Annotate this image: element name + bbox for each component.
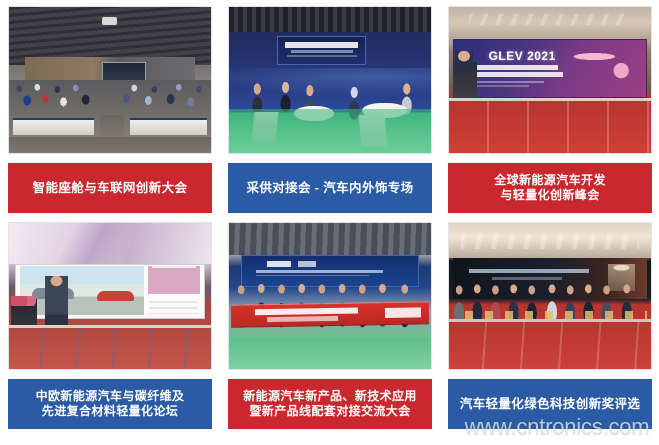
podium-flowers — [11, 296, 37, 306]
red-stage-floor — [449, 319, 651, 369]
card-2-photo[interactable] — [228, 6, 432, 154]
screen-line-4 — [471, 85, 529, 87]
card-4-caption: 中欧新能源汽车与碳纤维及 先进复合材料轻量化论坛 — [8, 379, 212, 429]
card-2-caption: 采供对接会 - 汽车内外饰专场 — [228, 163, 432, 213]
desk-right — [130, 118, 207, 136]
gallery-card-3[interactable]: GLEV 2021 全球新能源汽车开发 与轻量化创新峰会 — [448, 6, 652, 216]
slide-title-panel — [148, 266, 201, 294]
photo-scene-glev-summit: GLEV 2021 — [449, 7, 651, 153]
photo-scene-forum-speaker — [9, 223, 211, 369]
card-6-photo[interactable] — [448, 222, 652, 370]
banner-title-block — [285, 42, 358, 48]
photo-scene-ribbon-group — [229, 223, 431, 369]
speaker-figure — [455, 51, 473, 74]
gallery-card-1[interactable]: 智能座舱与车联网创新大会 — [8, 6, 212, 216]
card-5-caption: 新能源汽车新产品、新技术应用 暨新产品线配套对接交流大会 — [228, 379, 432, 429]
stage-banner — [277, 36, 366, 65]
conference-gallery-grid: 智能座舱与车联网创新大会 采供对接会 - 汽车内外饰专场 — [0, 0, 659, 445]
slide-photo — [20, 266, 144, 315]
board-title-line — [256, 270, 383, 273]
led-stage-screen: GLEV 2021 — [453, 39, 647, 97]
ribbon-text-line-2 — [267, 317, 338, 323]
card-1-photo[interactable] — [8, 6, 212, 154]
banner-subtitle-block — [291, 50, 354, 52]
board-subtitle-line — [256, 275, 369, 277]
red-stage-floor — [449, 98, 651, 153]
floor — [9, 137, 211, 153]
ballroom-ceiling — [9, 223, 211, 264]
screen-line-2 — [471, 72, 563, 77]
ribbon-text-line-1 — [255, 308, 358, 316]
card-5-photo[interactable] — [228, 222, 432, 370]
exhibition-hall-ceiling — [229, 223, 431, 255]
glev-screen-title: GLEV 2021 — [489, 49, 556, 63]
senia-logo — [385, 308, 421, 318]
speaker-figure — [45, 276, 67, 331]
card-3-photo[interactable]: GLEV 2021 — [448, 6, 652, 154]
screen-subtitle-line — [492, 277, 562, 280]
slide-text-lines — [149, 301, 198, 314]
gallery-card-6[interactable]: 汽车轻量化绿色科技创新奖评选 — [448, 222, 652, 433]
card-6-caption: 汽车轻量化绿色科技创新奖评选 — [448, 379, 652, 429]
photo-scene-matchmaking — [229, 7, 431, 153]
screen-graphic-swirl — [554, 48, 638, 87]
screen-line-1 — [471, 65, 557, 70]
gallery-card-5[interactable]: 新能源汽车新产品、新技术应用 暨新产品线配套对接交流大会 — [228, 222, 432, 433]
green-carpet-floor — [229, 109, 431, 153]
projection-screen — [15, 264, 205, 319]
projector-icon — [102, 17, 117, 25]
card-3-caption: 全球新能源汽车开发 与轻量化创新峰会 — [448, 163, 652, 213]
red-banner-ribbon — [231, 302, 429, 329]
red-stage-floor — [9, 325, 211, 369]
banner-caption-block — [287, 55, 357, 57]
screen-title-line — [469, 269, 589, 273]
ballroom-ceiling — [449, 223, 651, 258]
screen-line-3 — [471, 81, 544, 83]
photo-scene-award-ceremony — [449, 223, 651, 369]
sponsor-logo-2 — [298, 261, 316, 267]
ceiling-truss — [229, 7, 431, 32]
photo-scene-auditorium — [9, 7, 211, 153]
gallery-card-2[interactable]: 采供对接会 - 汽车内外饰专场 — [228, 6, 432, 216]
card-4-photo[interactable] — [8, 222, 212, 370]
card-1-caption: 智能座舱与车联网创新大会 — [8, 163, 212, 213]
green-carpet-floor — [229, 337, 431, 369]
sponsor-logo-1 — [267, 261, 292, 267]
gallery-card-4[interactable]: 中欧新能源汽车与碳纤维及 先进复合材料轻量化论坛 — [8, 222, 212, 433]
presentation-screen — [102, 62, 146, 81]
desk-left — [13, 118, 94, 136]
